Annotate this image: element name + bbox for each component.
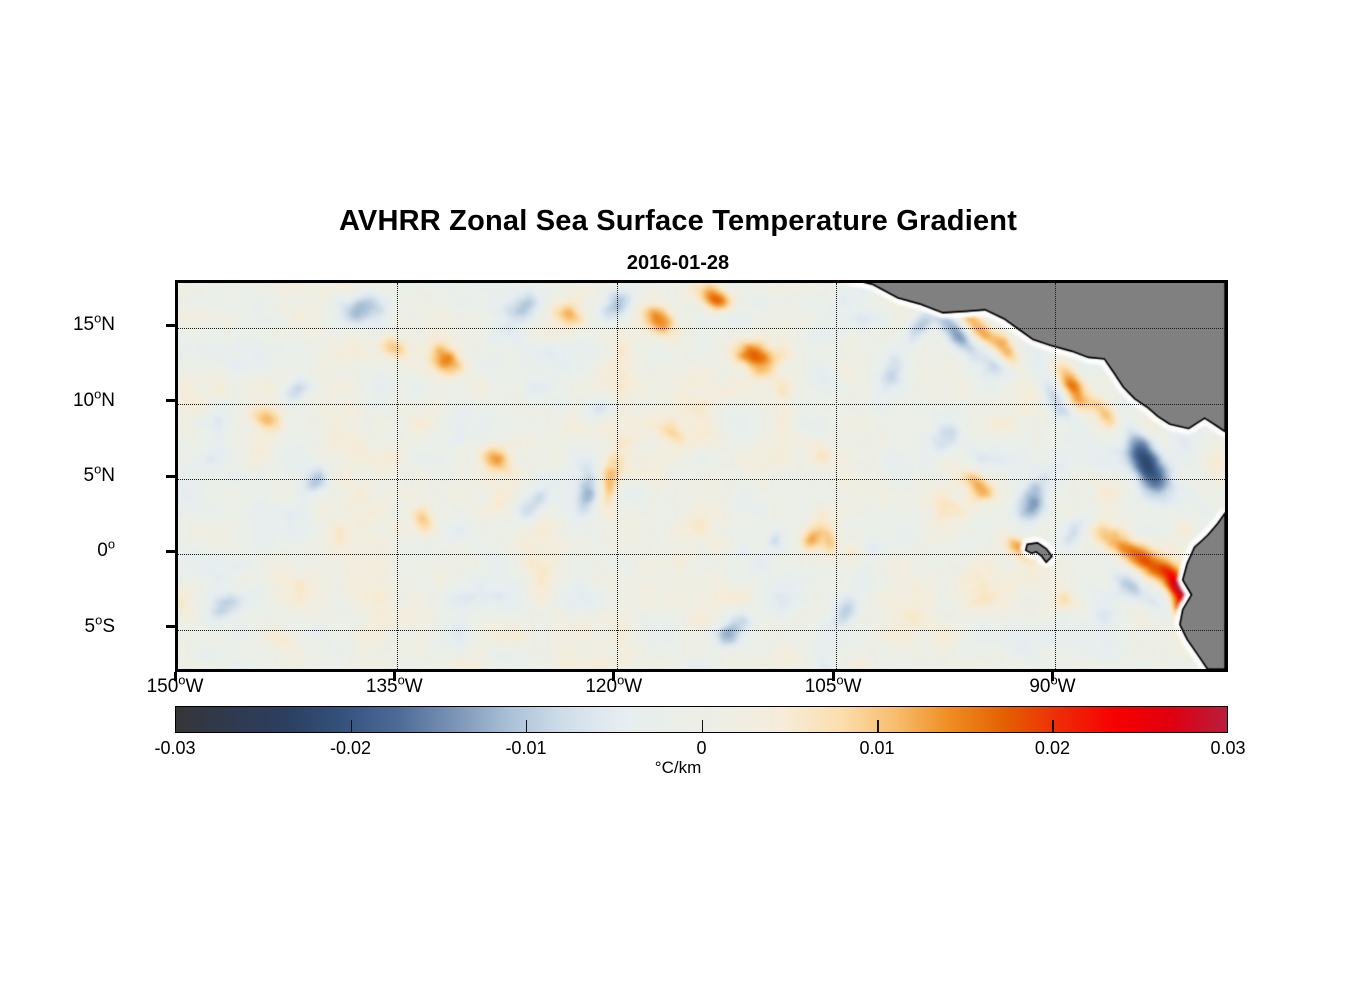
x-axis-tick-label-4: 90oW [1029, 676, 1075, 698]
x-axis-tick-label-1: 135oW [366, 676, 423, 698]
colorbar-tick-label-4: 0.01 [860, 738, 895, 759]
x-axis-tick-label-0: 150oW [147, 676, 204, 698]
colorbar-tick-label-1: -0.02 [330, 738, 371, 759]
y-axis-tick-label-2: 5oN [0, 465, 115, 487]
colorbar-tick-label-5: 0.02 [1035, 738, 1070, 759]
colorbar-tick [526, 720, 528, 733]
y-tick [166, 324, 175, 327]
y-axis-tick-label-4: 5oS [0, 616, 115, 638]
chart-subtitle: 2016-01-28 [0, 252, 1356, 275]
colorbar-unit-label: °C/km [0, 758, 1356, 778]
y-tick [166, 475, 175, 478]
colorbar-tick [702, 720, 704, 733]
colorbar-tick [351, 720, 353, 733]
colorbar-tick-label-3: 0 [696, 738, 706, 759]
y-tick [166, 625, 175, 628]
colorbar-tick-label-0: -0.03 [154, 738, 195, 759]
x-axis-tick-label-3: 105oW [805, 676, 862, 698]
colorbar-tick-label-6: 0.03 [1210, 738, 1245, 759]
colorbar-tick [1052, 720, 1054, 733]
y-axis-tick-label-1: 10oN [0, 390, 115, 412]
chart-title: AVHRR Zonal Sea Surface Temperature Grad… [0, 205, 1356, 238]
map-plot-area [175, 280, 1228, 672]
y-axis-tick-label-3: 0o [0, 540, 115, 562]
colorbar-tick-label-2: -0.01 [505, 738, 546, 759]
sst-gradient-field [178, 283, 1225, 669]
x-axis-tick-label-2: 120oW [585, 676, 642, 698]
y-axis-tick-label-0: 15oN [0, 314, 115, 336]
colorbar-tick [877, 720, 879, 733]
y-tick [166, 550, 175, 553]
y-tick [166, 399, 175, 402]
